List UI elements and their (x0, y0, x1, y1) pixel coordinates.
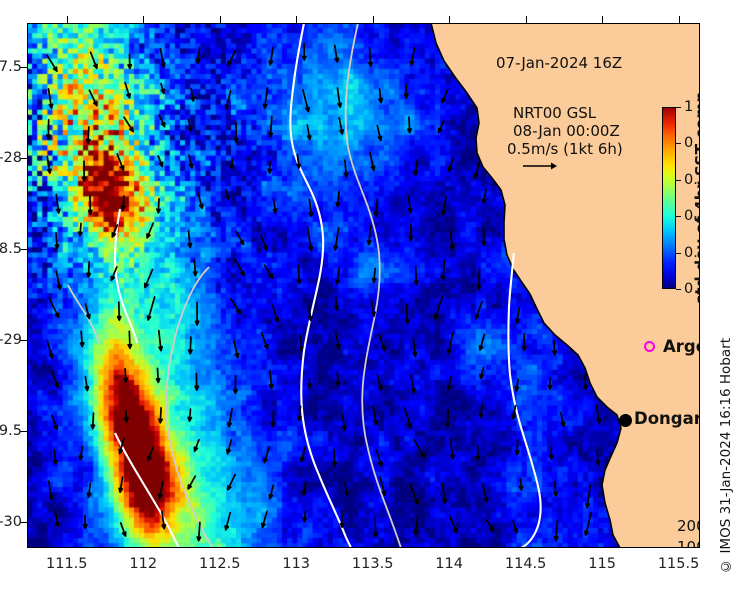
current-vector (379, 334, 385, 351)
current-vector (273, 306, 279, 322)
current-vector (333, 449, 336, 466)
map-overlays (27, 23, 700, 548)
current-vector (371, 301, 375, 316)
current-vector (448, 158, 453, 172)
right-arrow-icon (523, 161, 557, 171)
current-vector (226, 91, 231, 109)
current-vector (85, 377, 88, 391)
current-vector (124, 369, 127, 382)
current-vector (197, 48, 200, 64)
current-vector (411, 375, 415, 393)
current-vector (405, 85, 408, 99)
current-vector (513, 521, 517, 533)
current-vector (269, 116, 272, 137)
current-vector (159, 331, 162, 351)
argo-label: Argo (663, 337, 700, 356)
current-vector (487, 521, 494, 531)
current-vector (515, 379, 518, 390)
current-vector (235, 123, 238, 143)
current-vector (303, 511, 306, 521)
current-vector (447, 332, 453, 353)
current-vector (262, 512, 267, 528)
x-tick-label: 115.5 (658, 556, 700, 572)
current-vector (586, 485, 590, 507)
y-tick-label: -28.5 (0, 241, 22, 257)
current-vector (227, 440, 232, 454)
colorbar-tick (676, 180, 681, 181)
x-tick-label: 113.5 (352, 556, 394, 572)
current-vector (54, 450, 57, 464)
current-vector (198, 193, 203, 208)
current-vector (482, 228, 485, 245)
current-vector (480, 367, 484, 378)
current-vector (413, 338, 416, 357)
colorbar[interactable]: 00.20.40.60.81 (662, 107, 676, 289)
current-vector (228, 475, 235, 490)
current-vector (56, 271, 61, 289)
current-vector (271, 412, 274, 427)
current-vector (483, 485, 488, 502)
current-vector (475, 162, 480, 178)
current-vector (147, 223, 153, 238)
current-vector (87, 483, 90, 497)
current-vector (91, 413, 94, 429)
current-vector (335, 45, 339, 62)
current-vector (161, 84, 164, 94)
current-vector (309, 199, 312, 216)
credit-text: © IMOS 31-Jan-2024 16:16 Hobart (718, 338, 734, 574)
current-vector (476, 445, 479, 460)
current-vector (336, 268, 339, 284)
x-tick-label: 112 (129, 556, 157, 572)
x-tick (143, 16, 144, 23)
current-vector (379, 89, 382, 103)
current-vector (308, 379, 311, 388)
current-vector (188, 476, 195, 489)
current-vector (158, 156, 162, 167)
current-vector (159, 482, 163, 499)
x-tick (220, 16, 221, 23)
current-vector (337, 88, 341, 107)
current-vector (446, 410, 449, 427)
current-vector (188, 231, 191, 247)
current-vector (479, 335, 484, 350)
current-vector (550, 447, 553, 459)
current-vector (512, 406, 515, 419)
current-vector (80, 331, 83, 346)
current-vector (340, 511, 343, 527)
current-vector (89, 196, 92, 214)
current-vector (47, 55, 57, 71)
current-vector (373, 269, 376, 283)
current-vector (234, 340, 239, 357)
current-vector (191, 89, 194, 101)
x-tick-label: 113 (282, 556, 310, 572)
current-vector (483, 189, 487, 203)
current-vector (377, 126, 381, 141)
colorbar-tick (676, 289, 681, 290)
current-vector (269, 48, 273, 65)
current-vector (336, 192, 339, 207)
current-vector (450, 232, 453, 250)
dongara-city-marker[interactable] (619, 414, 632, 427)
current-vector (124, 117, 133, 131)
current-vector (49, 298, 59, 317)
current-vector (47, 341, 52, 358)
x-tick-label: 112.5 (199, 556, 241, 572)
x-tick-label: 114.5 (505, 556, 547, 572)
current-vector (189, 155, 193, 168)
current-vector (409, 224, 412, 241)
current-vector (405, 408, 411, 428)
x-tick (373, 16, 374, 23)
current-vector (409, 196, 412, 213)
current-vector (264, 447, 269, 463)
current-vector (194, 440, 199, 452)
colorbar-gradient (662, 107, 676, 289)
current-vector (343, 415, 346, 431)
x-tick-label: 111.5 (46, 556, 88, 572)
current-vector (336, 333, 340, 349)
current-vector (84, 516, 87, 529)
current-vector (225, 513, 230, 530)
current-vector (435, 296, 443, 319)
current-vector (79, 223, 82, 236)
current-vector (442, 260, 445, 280)
current-vector (87, 262, 90, 277)
current-vector (414, 440, 424, 457)
current-vector (47, 157, 51, 174)
current-vector (415, 267, 418, 285)
current-vector (596, 405, 600, 423)
current-vector (442, 89, 448, 103)
current-vector (125, 83, 130, 98)
current-vector (519, 479, 522, 490)
current-vector (450, 516, 457, 533)
x-tick-label: 115 (588, 556, 616, 572)
current-vector (55, 233, 58, 249)
current-vector (414, 160, 417, 175)
current-vector (51, 370, 58, 387)
current-vector (145, 270, 153, 288)
vector-scale-label: 0.5m/s (1kt 6h) (507, 140, 623, 158)
current-vector (370, 152, 375, 170)
current-vector (148, 447, 153, 460)
current-vector (369, 48, 372, 66)
current-vector (128, 331, 131, 348)
current-vector (300, 335, 303, 350)
current-vector (585, 513, 591, 536)
current-vector (228, 409, 232, 427)
current-vector (87, 127, 90, 143)
map-plot-area[interactable]: 07-Jan-2024 16Z NRT00 GSL 08-Jan 00:00Z … (27, 23, 700, 548)
current-vector (443, 484, 447, 503)
colorbar-tick (676, 143, 681, 144)
current-vector (49, 481, 53, 499)
x-tick (526, 16, 527, 23)
current-vector (406, 304, 409, 323)
current-vector (231, 299, 240, 314)
current-vector (264, 88, 268, 109)
current-vector (555, 521, 558, 541)
x-tick-label: 114 (435, 556, 463, 572)
current-vector (408, 117, 411, 133)
current-vector (553, 340, 556, 355)
date-stamp: 07-Jan-2024 16Z (496, 54, 622, 72)
current-vector (160, 49, 164, 67)
current-vector (234, 376, 237, 394)
x-tick (296, 16, 297, 23)
current-vector (194, 260, 197, 276)
current-vector (188, 409, 191, 421)
current-vector (261, 236, 267, 250)
current-vector (55, 511, 59, 526)
current-vector (584, 374, 587, 390)
colorbar-tick (676, 253, 681, 254)
figure-canvas: 07-Jan-2024 16Z NRT00 GSL 08-Jan 00:00Z … (0, 0, 740, 592)
current-vector (265, 265, 273, 278)
colorbar-tick (676, 216, 681, 217)
current-vector (159, 408, 162, 423)
current-vector (226, 190, 229, 200)
current-vector (301, 447, 306, 462)
current-vector (516, 308, 520, 324)
y-tick-label: -30 (0, 514, 22, 530)
y-tick-label: -27.5 (0, 59, 22, 75)
current-vector (195, 374, 198, 390)
current-vector (273, 199, 276, 213)
current-vector (345, 160, 348, 177)
x-tick (449, 16, 450, 23)
current-vector (89, 90, 97, 105)
isobath-1000m-label: 1000m (677, 538, 700, 548)
y-tick-label: -28 (0, 150, 22, 166)
x-tick (679, 16, 680, 23)
current-vector (335, 296, 338, 310)
current-vector (303, 44, 306, 61)
current-vector (447, 377, 450, 390)
current-vector (303, 482, 306, 496)
current-vector (157, 199, 160, 213)
current-vector (119, 477, 122, 492)
source-time-label: 08-Jan 00:00Z (513, 122, 620, 140)
current-vector (117, 154, 123, 170)
current-vector (377, 375, 382, 390)
current-vector (303, 90, 309, 112)
current-vector (197, 523, 200, 541)
current-vector (414, 517, 417, 535)
current-vector (128, 54, 131, 68)
current-vector (334, 228, 339, 250)
current-vector (56, 195, 60, 213)
current-vector (79, 447, 82, 460)
current-vector (439, 121, 444, 133)
x-tick (602, 16, 603, 23)
current-vector (368, 226, 371, 245)
current-vector (157, 368, 160, 382)
current-vector (376, 450, 382, 466)
current-vector (83, 161, 86, 181)
current-vector (307, 125, 311, 140)
current-vector (345, 482, 348, 496)
current-vector (554, 482, 557, 496)
current-vector (228, 51, 235, 66)
current-vector (159, 115, 165, 127)
current-vector (270, 371, 273, 389)
current-vector (410, 485, 418, 505)
y-tick-label: -29.5 (0, 423, 22, 439)
current-vector (561, 413, 565, 427)
current-vector (269, 485, 273, 499)
current-vector (375, 199, 378, 217)
current-vector (442, 197, 446, 215)
current-vector (476, 302, 483, 319)
current-vector (196, 302, 199, 325)
current-vector (189, 119, 192, 131)
current-vector (122, 196, 125, 210)
current-vector (236, 232, 243, 245)
current-vector (477, 269, 480, 289)
current-vector (230, 159, 233, 169)
current-vector (596, 450, 599, 465)
colorbar-title: std dev of 4hr SST comp (691, 107, 700, 289)
x-tick (67, 16, 68, 23)
current-vector (189, 337, 192, 354)
dongara-label: Dongara (634, 409, 700, 428)
current-vector (47, 120, 50, 139)
current-vector (548, 378, 551, 389)
isobath-200m-label: 200m (677, 517, 700, 535)
current-vector (125, 410, 128, 422)
current-vector (479, 405, 482, 417)
current-vector (451, 439, 455, 459)
current-vector (148, 297, 155, 320)
current-vector (374, 518, 377, 537)
current-vector (298, 406, 301, 420)
current-vector (298, 266, 301, 284)
current-vector (373, 407, 377, 425)
current-vector (118, 302, 121, 320)
colorbar-tick (676, 107, 681, 108)
current-vector (336, 372, 339, 385)
current-vector (49, 89, 53, 108)
current-vector (262, 333, 268, 349)
current-vector (236, 260, 244, 276)
current-vector (523, 334, 526, 351)
y-tick-label: -29 (0, 332, 22, 348)
current-vector (339, 118, 343, 134)
current-vector (91, 52, 97, 68)
current-vector (297, 155, 300, 169)
source-product-label: NRT00 GSL (513, 104, 596, 122)
current-vector (268, 162, 271, 173)
current-vector (121, 523, 126, 536)
current-vector (410, 48, 414, 65)
current-vector (516, 439, 519, 455)
argo-float-marker[interactable] (644, 341, 655, 352)
current-vector (308, 228, 313, 251)
current-vector (52, 415, 58, 429)
